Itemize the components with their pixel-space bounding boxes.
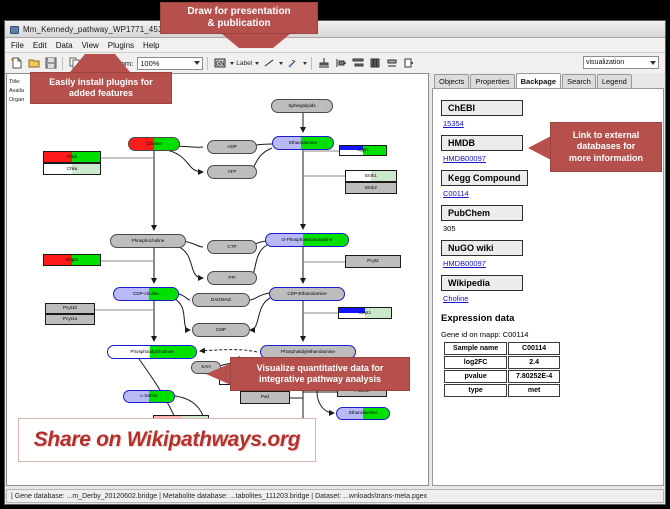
tab-objects[interactable]: Objects	[434, 74, 469, 88]
pathway-node-sgpl1[interactable]: Sgpl1	[339, 145, 387, 156]
chevron-down-icon[interactable]	[303, 62, 307, 65]
pathway-node-phosphatidylcholines[interactable]: Phosphatidylcholines	[107, 345, 197, 359]
db-header-kegg-compound: Kegg Compound	[441, 170, 528, 186]
visualization-combobox[interactable]: visualization	[583, 56, 659, 69]
callout-arrow-up	[70, 54, 130, 72]
gene-id-on-mapp: Gene id on mapp: C00114	[441, 330, 655, 339]
pathway-node-chka[interactable]: Chka	[43, 163, 101, 175]
db-header-hmdb: HMDB	[441, 135, 523, 151]
align-left-icon[interactable]	[333, 56, 348, 71]
db-link-nugo-wiki[interactable]: HMDB00097	[443, 259, 655, 268]
callout-visualize-quantitative-data: Visualize quantitative data for integrat…	[230, 357, 410, 391]
callout-line-2: added features	[69, 88, 133, 99]
pathway-node-l-serine-left[interactable]: L-Serine	[123, 390, 175, 403]
callout-line-2: integrative pathway analysis	[259, 374, 381, 385]
pathway-node-atp[interactable]: ATP	[207, 165, 257, 179]
cell-val: 2.4	[508, 356, 560, 369]
node-label: CMP	[216, 328, 226, 333]
tab-legend[interactable]: Legend	[597, 74, 632, 88]
pathway-node-phosphocholine[interactable]: Phosphocholine	[110, 234, 186, 248]
title-bar: Mm_Kennedy_pathway_WP1771_45176.gpml	[5, 21, 665, 38]
node-label: Etnk1	[365, 174, 377, 179]
node-label: PPi	[228, 276, 235, 281]
canvas-info-organism: Organ	[9, 96, 24, 104]
node-label: CDP-choline	[133, 292, 159, 297]
callout-draw-for-presentation: Draw for presentation & publication	[160, 2, 318, 34]
chevron-down-icon	[194, 61, 200, 65]
callout-arrow-down	[222, 34, 290, 48]
status-bar: | Gene database: ...m_Derby_20120602.bri…	[6, 489, 664, 503]
db-value-pubchem: 305	[443, 224, 655, 233]
tab-search[interactable]: Search	[562, 74, 596, 88]
align-top-icon[interactable]	[316, 56, 331, 71]
db-header-pubchem: PubChem	[441, 205, 523, 221]
node-label: O-Phosphoethanolamine	[282, 238, 333, 243]
pathway-node-dagmag[interactable]: DAGMAG	[192, 293, 250, 307]
tab-backpage[interactable]: Backpage	[516, 73, 561, 88]
cell-key: type	[444, 384, 507, 397]
callout-easily-install-plugins: Easily install plugins for added feature…	[30, 72, 172, 104]
toolbar-separator	[62, 57, 63, 70]
menu-bar: File Edit Data View Plugins Help	[5, 38, 665, 53]
cell-val: 7.80252E-4	[508, 370, 560, 383]
callout-line-3: more information	[569, 153, 643, 164]
datanode-icon[interactable]: GN	[212, 56, 227, 71]
line-icon[interactable]	[261, 56, 276, 71]
node-label: Choline	[146, 142, 162, 147]
menu-item-view[interactable]: View	[82, 41, 99, 50]
node-label: CDP-Ethanolamine	[287, 292, 326, 297]
callout-line-1: Draw for presentation	[187, 6, 290, 19]
node-label: DAGMAG	[211, 298, 231, 303]
node-label: Phosphatidylethanolamine	[281, 350, 335, 355]
callout-line-1: Visualize quantitative data for	[257, 363, 384, 374]
cell-key: Sample name	[444, 342, 507, 355]
node-label: Ethanolamine	[289, 141, 317, 146]
pathway-node-ethanolamine-bottom[interactable]: Ethanolamine	[336, 407, 390, 420]
bring-to-front-icon[interactable]	[384, 56, 399, 71]
pathway-node-cmp[interactable]: CMP	[192, 323, 250, 337]
pathway-node-adp[interactable]: ADP	[207, 140, 257, 154]
save-file-icon[interactable]	[43, 56, 58, 71]
chevron-down-icon[interactable]	[279, 62, 283, 65]
callout-arrow-left	[528, 136, 551, 160]
node-label: ADP	[227, 145, 236, 150]
pathway-node-pcyt2[interactable]: Pcyt2	[345, 255, 401, 268]
callout-line-2: & publication	[207, 18, 270, 31]
toolbar-separator	[207, 57, 208, 70]
open-file-icon[interactable]	[26, 56, 41, 71]
table-row: Sample name C00114	[444, 342, 560, 355]
share-banner: Share on Wikipathways.org	[18, 418, 316, 462]
chevron-down-icon	[650, 61, 656, 65]
screen: Mm_Kennedy_pathway_WP1771_45176.gpml Fil…	[0, 0, 670, 509]
pathway-node-ctp[interactable]: CTP	[207, 240, 257, 254]
same-width-icon[interactable]	[367, 56, 382, 71]
pathway-node-ppi[interactable]: PPi	[207, 271, 257, 285]
menu-item-data[interactable]: Data	[56, 41, 73, 50]
menu-item-plugins[interactable]: Plugins	[108, 41, 134, 50]
cell-val: met	[508, 384, 560, 397]
pathway-node-psd[interactable]: Psd	[240, 391, 290, 404]
pathway-node-pcyt1a[interactable]: Pcyt1a	[45, 314, 95, 325]
node-label: ATP	[228, 170, 237, 175]
node-label: CTP	[227, 245, 236, 250]
callout-line-1: Link to external	[573, 130, 640, 141]
node-label: Pcyt1a	[63, 317, 77, 322]
status-text: | Gene database: ...m_Derby_20120602.bri…	[11, 493, 427, 500]
node-label: Sgpl1	[357, 148, 369, 153]
node-label: L-Serine	[140, 394, 157, 399]
db-link-kegg-compound[interactable]: C00114	[443, 189, 655, 198]
visualization-value: visualization	[586, 59, 624, 66]
cell-key: pvalue	[444, 370, 507, 383]
pathway-node-cdp-choline[interactable]: CDP-choline	[113, 287, 179, 301]
table-row: type met	[444, 384, 560, 397]
cell-val: C00114	[508, 342, 560, 355]
db-header-chebi: ChEBI	[441, 100, 523, 116]
zoom-combobox[interactable]: 100%	[137, 57, 203, 70]
node-label: Sphingolipids	[288, 104, 315, 109]
pathway-node-chkb[interactable]: Chkb	[43, 151, 101, 163]
node-label: Phosphocholine	[132, 239, 165, 244]
db-header-nugo-wiki: NuGO wiki	[441, 240, 523, 256]
pathway-node-chpt1[interactable]: Chpt1	[43, 254, 101, 266]
tab-properties[interactable]: Properties	[470, 74, 514, 88]
pathway-node-choline-top[interactable]: Choline	[128, 137, 180, 151]
share-banner-text: Share on Wikipathways.org	[34, 428, 301, 452]
table-row: log2FC 2.4	[444, 356, 560, 369]
menu-item-edit[interactable]: Edit	[33, 41, 47, 50]
node-label: Psd	[261, 395, 269, 400]
expression-data-table: Sample name C00114 log2FC 2.4 pvalue 7.8…	[443, 341, 561, 398]
node-label: Cept1	[359, 311, 371, 316]
menu-item-file[interactable]: File	[11, 41, 24, 50]
new-file-icon[interactable]	[9, 56, 24, 71]
interaction-icon[interactable]	[285, 56, 300, 71]
callout-link-external-databases: Link to external databases for more info…	[550, 122, 662, 172]
node-label: Etnk2	[365, 186, 377, 191]
svg-text:GN: GN	[215, 62, 224, 68]
label-tool-label: Label	[236, 60, 252, 67]
chevron-down-icon[interactable]	[230, 62, 234, 65]
callout-line-1: Easily install plugins for	[49, 77, 153, 88]
node-label: Ethanolamine	[349, 411, 377, 416]
table-row: pvalue 7.80252E-4	[444, 370, 560, 383]
send-to-back-icon[interactable]	[401, 56, 416, 71]
node-label: Chkb	[67, 155, 78, 160]
callout-line-2: databases for	[577, 141, 636, 152]
pathway-node-etnk1[interactable]: Etnk1	[345, 170, 397, 182]
pathway-node-pcyt1b[interactable]: Pcyt1b	[45, 303, 95, 314]
distribute-vertical-icon[interactable]	[350, 56, 365, 71]
pathway-node-cept1[interactable]: Cept1	[338, 307, 392, 319]
pathway-node-sphingolipids[interactable]: Sphingolipids	[271, 99, 333, 113]
zoom-value: 100%	[140, 59, 159, 68]
toolbar-separator	[311, 57, 312, 70]
canvas-info-availability: Availa	[9, 87, 24, 95]
node-label: Chka	[67, 167, 78, 172]
node-label: Phosphatidylcholines	[130, 350, 173, 355]
node-label: Pcyt1b	[63, 306, 77, 311]
pathway-node-cdp-ethanolamine[interactable]: CDP-Ethanolamine	[269, 287, 345, 301]
pathway-node-ethanolamine-top[interactable]: Ethanolamine	[272, 136, 334, 150]
node-label: Pcyt2	[367, 259, 379, 264]
node-label: Chpt1	[66, 258, 78, 263]
menu-item-help[interactable]: Help	[143, 41, 159, 50]
callout-arrow-left	[206, 363, 231, 385]
pathway-node-etnk2[interactable]: Etnk2	[345, 182, 397, 194]
cell-key: log2FC	[444, 356, 507, 369]
canvas-info-title: Title:	[9, 78, 21, 86]
pathway-node-o-phosphoethanolamine[interactable]: O-Phosphoethanolamine	[265, 233, 349, 247]
pathvisio-icon	[9, 24, 19, 34]
db-link-wikipedia[interactable]: Choline	[443, 294, 655, 303]
side-tabs: Objects Properties Backpage Search Legen…	[430, 73, 664, 88]
db-header-wikipedia: Wikipedia	[441, 275, 523, 291]
expression-data-heading: Expression data	[441, 313, 655, 324]
chevron-down-icon[interactable]	[255, 62, 259, 65]
